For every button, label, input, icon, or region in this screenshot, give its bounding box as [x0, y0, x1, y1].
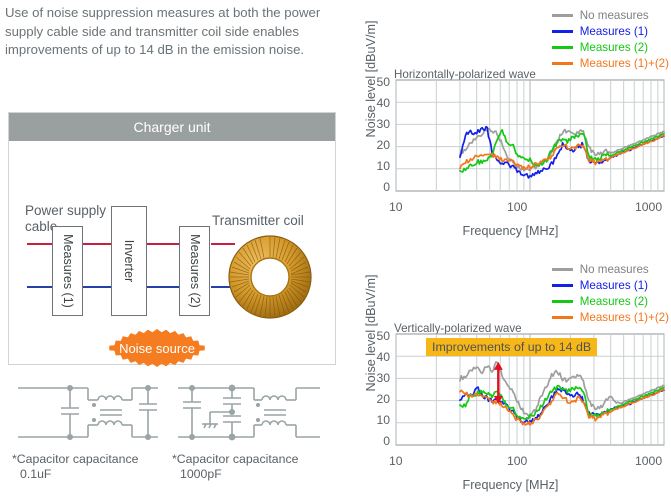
legend-label-measures-1-2: Measures (1)+(2)	[580, 57, 669, 70]
noise-source-badge: Noise source	[97, 329, 217, 367]
chart1-xtick-10: 10	[389, 200, 403, 214]
legend-label-measures-2: Measures (2)	[580, 41, 648, 54]
legend2-item-measures-1: Measures (1)	[552, 278, 669, 293]
legend-swatch-measures-2-icon	[552, 46, 573, 49]
circuit-2-caption-line2: 1000pF	[180, 467, 332, 482]
circuit-2-caption: *Capacitor capacitance 1000pF	[172, 452, 332, 482]
chart2-xtick-10: 10	[389, 454, 403, 468]
chart2-xlabel: Frequency [MHz]	[350, 478, 671, 492]
legend-item-measures-1-2: Measures (1)+(2)	[552, 56, 669, 71]
wire-blue-seg1	[27, 286, 52, 288]
noise-source-label: Noise source	[97, 329, 217, 367]
legend-label-measures-1: Measures (1)	[580, 25, 648, 38]
chart2-ytick-40: 40	[362, 350, 390, 364]
chart-vertically-polarized: No measures Measures (1) Measures (2) Me…	[350, 254, 671, 504]
chart2-plot-title: Vertically-polarized wave	[394, 322, 522, 335]
legend-swatch-no-measures-icon	[552, 14, 573, 17]
legend-swatch-measures-1-2-icon	[552, 62, 573, 65]
legend2-swatch-measures-1-2-icon	[552, 316, 573, 319]
chart1-xtick-1000: 1000	[635, 200, 662, 214]
chart2-ytick-20: 20	[362, 392, 390, 406]
circuit-diagram-1	[10, 380, 165, 448]
chart1-ytick-0: 0	[362, 180, 390, 194]
inverter-label: Inverter	[122, 240, 136, 282]
measures-2-label: Measures (2)	[188, 234, 202, 308]
chart1-legend: No measures Measures (1) Measures (2) Me…	[552, 8, 669, 72]
chart1-xlabel: Frequency [MHz]	[350, 224, 671, 238]
legend-item-measures-2: Measures (2)	[552, 40, 669, 55]
chart1-ytick-20: 20	[362, 138, 390, 152]
chart1-ytick-40: 40	[362, 96, 390, 110]
chart2-ytick-10: 10	[362, 413, 390, 427]
legend2-item-no-measures: No measures	[552, 262, 669, 277]
chart-horizontally-polarized: No measures Measures (1) Measures (2) Me…	[350, 0, 671, 250]
transmitter-coil-icon	[228, 235, 312, 319]
legend2-item-measures-2: Measures (2)	[552, 294, 669, 309]
improvement-annotation-badge: Improvements of up to 14 dB	[426, 338, 597, 356]
wire-blue-seg2	[83, 286, 111, 288]
chart2-ytick-30: 30	[362, 371, 390, 385]
chart1-plot-title: Horizontally-polarized wave	[394, 68, 536, 81]
charger-unit-body: Power supply cable Transmitter coil Meas…	[9, 141, 335, 366]
legend-item-measures-1: Measures (1)	[552, 24, 669, 39]
wire-red-seg1	[27, 243, 52, 245]
legend2-label-no-measures: No measures	[580, 263, 649, 276]
legend2-swatch-measures-2-icon	[552, 300, 573, 303]
legend-label-no-measures: No measures	[580, 9, 649, 22]
wire-blue-seg3	[147, 286, 179, 288]
chart2-ytick-0: 0	[362, 434, 390, 448]
circuit-diagrams: *Capacitor capacitance 0.1uF *Capacitor …	[10, 380, 340, 500]
page-root: Use of noise suppression measures at bot…	[0, 0, 671, 504]
chart2-ytick-50: 50	[362, 329, 390, 343]
legend2-item-measures-1-2: Measures (1)+(2)	[552, 310, 669, 325]
legend2-label-measures-1-2: Measures (1)+(2)	[580, 311, 669, 324]
chart1-ytick-50: 50	[362, 75, 390, 89]
legend-item-no-measures: No measures	[552, 8, 669, 23]
legend-swatch-measures-1-icon	[552, 30, 573, 33]
legend2-label-measures-1: Measures (1)	[580, 279, 648, 292]
chart2-legend: No measures Measures (1) Measures (2) Me…	[552, 262, 669, 326]
chart1-ytick-10: 10	[362, 159, 390, 173]
circuit-1-caption-line1: *Capacitor capacitance	[12, 452, 162, 467]
legend2-swatch-no-measures-icon	[552, 268, 573, 271]
chart1-ytick-30: 30	[362, 117, 390, 131]
chart2-xtick-1000: 1000	[635, 454, 662, 468]
charger-unit-header: Charger unit	[9, 113, 335, 141]
intro-paragraph: Use of noise suppression measures at bot…	[5, 4, 335, 60]
circuit-1-caption-line2: 0.1uF	[20, 467, 162, 482]
inverter-box: Inverter	[111, 206, 147, 316]
legend2-label-measures-2: Measures (2)	[580, 295, 648, 308]
transmitter-coil-label: Transmitter coil	[212, 213, 304, 228]
circuit-1-caption: *Capacitor capacitance 0.1uF	[12, 452, 162, 482]
legend2-swatch-measures-1-icon	[552, 284, 573, 287]
measures-2-box: Measures (2)	[179, 226, 210, 316]
measures-1-box: Measures (1)	[52, 226, 83, 316]
circuit-diagram-2	[170, 380, 325, 448]
chart2-xtick-100: 100	[507, 454, 527, 468]
chart1-xtick-100: 100	[507, 200, 527, 214]
wire-red-seg3	[147, 243, 179, 245]
charger-unit-panel: Charger unit Power supply cable Transmit…	[8, 112, 336, 365]
circuit-2-caption-line1: *Capacitor capacitance	[172, 452, 332, 467]
measures-1-label: Measures (1)	[61, 234, 75, 308]
wire-red-seg2	[83, 243, 111, 245]
